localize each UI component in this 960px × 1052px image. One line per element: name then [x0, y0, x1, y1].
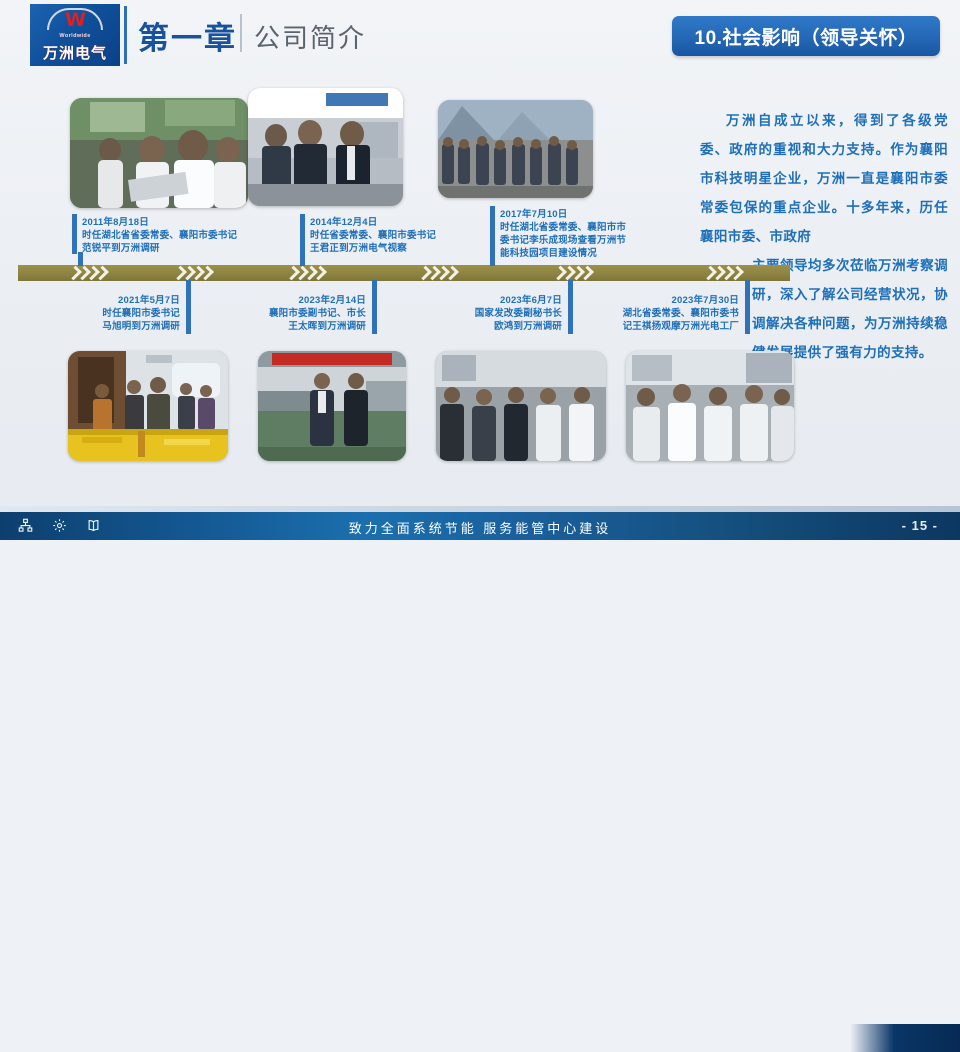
timeline-text-line: 马旭明到万洲调研 — [40, 320, 180, 333]
header-divider — [240, 14, 242, 52]
section-badge-label: 10.社会影响（领导关怀） — [695, 23, 918, 50]
timeline-date: 2017年7月10日 — [500, 208, 650, 221]
timeline-connector — [300, 252, 305, 266]
timeline-text-line: 记王祺扬观摩万洲光电工厂 — [575, 320, 739, 333]
timeline-date: 2014年12月4日 — [310, 216, 470, 229]
timeline-label-2021: 2021年5月7日 时任襄阳市委书记 马旭明到万洲调研 — [40, 294, 180, 333]
slide-root: W Worldwide 万洲电气 第一章 公司简介 10.社会影响（领导关怀） … — [0, 0, 960, 540]
photo-2017 — [438, 100, 593, 198]
photo-2011-image — [70, 98, 248, 208]
timeline-label-2011: 2011年8月18日 时任湖北省省委常委、襄阳市委书记 范锐平到万洲调研 — [82, 216, 252, 255]
photo-2014 — [248, 88, 403, 206]
timeline-text-line: 国家发改委副秘书长 — [430, 307, 562, 320]
photo-2023-jul-image — [626, 351, 794, 461]
timeline-date: 2023年7月30日 — [575, 294, 739, 307]
photo-2023jul-accent — [745, 292, 750, 334]
photo-2011 — [70, 98, 248, 208]
timeline-date: 2023年2月14日 — [232, 294, 366, 307]
photo-2023-jul — [626, 351, 794, 461]
timeline-chevrons — [175, 265, 221, 281]
timeline-date: 2021年5月7日 — [40, 294, 180, 307]
footer-page-backdrop — [850, 1024, 960, 1052]
timeline-text-line: 时任湖北省委常委、襄阳市市 — [500, 221, 650, 234]
timeline-text-line: 委书记李乐成现场查看万洲节 — [500, 234, 650, 247]
slide-header: W Worldwide 万洲电气 第一章 公司简介 10.社会影响（领导关怀） — [0, 0, 960, 76]
photo-2021 — [68, 351, 228, 461]
timeline-text-line: 能科技园项目建设情况 — [500, 247, 650, 260]
photo-2017-image — [438, 100, 593, 198]
timeline-chevrons — [420, 265, 466, 281]
description-part-1: 万洲自成立以来，得到了各级党委、政府的重视和大力支持。作为襄阳市科技明星企业，万… — [700, 106, 948, 251]
photo-2023feb-accent — [372, 292, 377, 334]
timeline-text-line: 范锐平到万洲调研 — [82, 242, 252, 255]
timeline-chevrons — [70, 265, 116, 281]
timeline-label-2023-jun: 2023年6月7日 国家发改委副秘书长 欧鸿到万洲调研 — [430, 294, 562, 333]
logo-chinese-text: 万洲电气 — [43, 42, 107, 63]
photo-2014-image — [248, 88, 403, 206]
timeline-chevrons — [555, 265, 601, 281]
timeline-label-2017: 2017年7月10日 时任湖北省委常委、襄阳市市 委书记李乐成现场查看万洲节 能… — [500, 208, 650, 260]
logo-emblem-icon: W — [47, 8, 103, 34]
timeline-chevrons — [288, 265, 334, 281]
page-title: 第一章 — [138, 13, 237, 58]
timeline-text-line: 湖北省委常委、襄阳市委书 — [575, 307, 739, 320]
photo-2014-accent — [300, 214, 305, 254]
timeline-text-line: 时任襄阳市委书记 — [40, 307, 180, 320]
timeline-date: 2023年6月7日 — [430, 294, 562, 307]
page-number: - 15 - — [902, 518, 938, 533]
photo-2021-image — [68, 351, 228, 461]
photo-2011-accent — [72, 214, 77, 254]
photo-2023-feb — [258, 351, 406, 461]
timeline-text-line: 时任湖北省省委常委、襄阳市委书记 — [82, 229, 252, 242]
timeline-label-2023-feb: 2023年2月14日 襄阳市委副书记、市长 王太晖到万洲调研 — [232, 294, 366, 333]
footer-slogan: 致力全面系统节能 服务能管中心建设 — [0, 518, 960, 537]
photo-2023-feb-image — [258, 351, 406, 461]
logo-w-mark: W — [47, 11, 103, 30]
timeline-label-2023-jul: 2023年7月30日 湖北省委常委、襄阳市委书 记王祺扬观摩万洲光电工厂 — [575, 294, 739, 333]
timeline-bar — [18, 265, 790, 281]
page-subtitle: 公司简介 — [254, 18, 366, 55]
timeline-text-line: 王太晖到万洲调研 — [232, 320, 366, 333]
timeline-connector — [490, 252, 495, 266]
timeline-text-line: 时任省委常委、襄阳市委书记 — [310, 229, 470, 242]
section-badge: 10.社会影响（领导关怀） — [672, 16, 940, 56]
photo-2023-jun-image — [436, 351, 606, 461]
timeline-text-line: 欧鸿到万洲调研 — [430, 320, 562, 333]
header-accent-bar — [124, 6, 127, 64]
photo-2023jun-accent — [568, 292, 573, 334]
company-logo: W Worldwide 万洲电气 — [30, 4, 120, 66]
timeline-label-2014: 2014年12月4日 时任省委常委、襄阳市委书记 王君正到万洲电气视察 — [310, 216, 470, 255]
timeline-text-line: 王君正到万洲电气视察 — [310, 242, 470, 255]
timeline-chevrons — [705, 265, 751, 281]
photo-2021-accent — [186, 292, 191, 334]
timeline-date: 2011年8月18日 — [82, 216, 252, 229]
photo-2017-accent — [490, 206, 495, 254]
photo-2023-jun — [436, 351, 606, 461]
timeline-text-line: 襄阳市委副书记、市长 — [232, 307, 366, 320]
